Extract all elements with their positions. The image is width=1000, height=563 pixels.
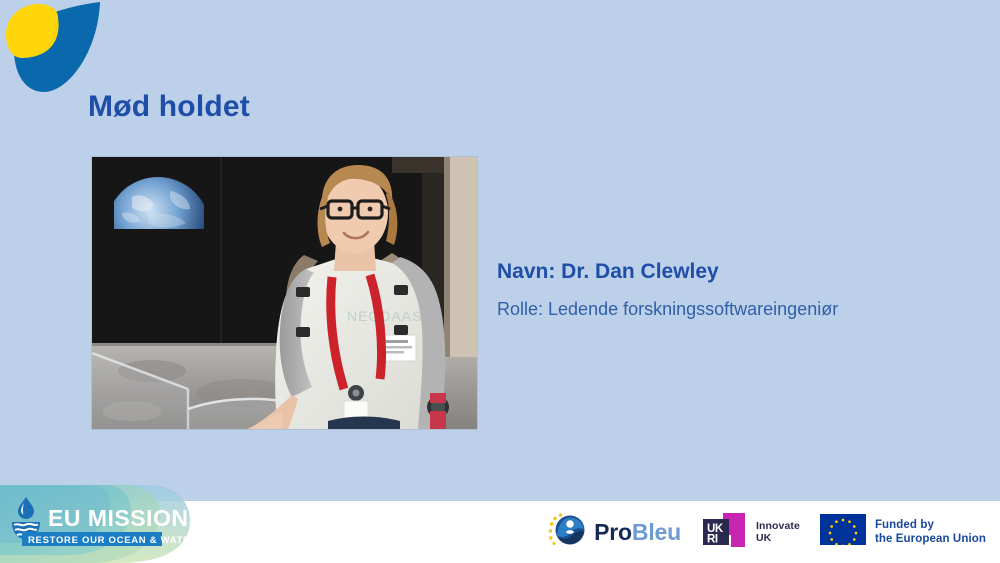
eu-missions-title: EU MISSIONS bbox=[48, 505, 204, 531]
page-title: Mød holdet bbox=[88, 88, 250, 126]
person-role: Rolle: Ledende forskningssoftwareingeniø… bbox=[497, 297, 957, 321]
probleu-text-bleu: Bleu bbox=[632, 519, 681, 545]
eu-missions-tagline: RESTORE OUR OCEAN & WATERS bbox=[28, 535, 205, 546]
svg-text:RI: RI bbox=[707, 533, 718, 545]
svg-text:NEODAAS: NEODAAS bbox=[347, 308, 422, 324]
probleu-logo: ProBleu bbox=[546, 511, 681, 554]
droplet-leaf-logo-icon bbox=[0, 0, 108, 98]
partner-logo-strip: ProBleu UK RI Innovate UK bbox=[546, 509, 986, 555]
eu-funded-logo: Funded by the European Union bbox=[820, 514, 986, 550]
eu-funded-line1: Funded by bbox=[875, 519, 934, 531]
probleu-circle-stars-icon bbox=[546, 511, 588, 554]
person-name: Navn: Dr. Dan Clewley bbox=[497, 258, 957, 286]
slide-canvas: Mød holdet bbox=[0, 0, 1000, 563]
person-details: Navn: Dr. Dan Clewley Rolle: Ledende for… bbox=[497, 258, 957, 321]
ukri-block-icon: UK RI bbox=[701, 513, 749, 552]
innovate-uk-logo: UK RI Innovate UK bbox=[701, 513, 800, 552]
innovate-uk-line2: UK bbox=[756, 532, 771, 544]
person-photo: NEODAAS bbox=[92, 157, 477, 429]
innovate-uk-line1: Innovate bbox=[756, 520, 800, 532]
eu-funded-line2: the European Union bbox=[875, 533, 986, 545]
eu-missions-logo: EU MISSIONS RESTORE OUR OCEAN & WATERS bbox=[0, 485, 210, 563]
probleu-text-pro: Pro bbox=[594, 519, 632, 545]
eu-flag-icon bbox=[820, 514, 866, 550]
